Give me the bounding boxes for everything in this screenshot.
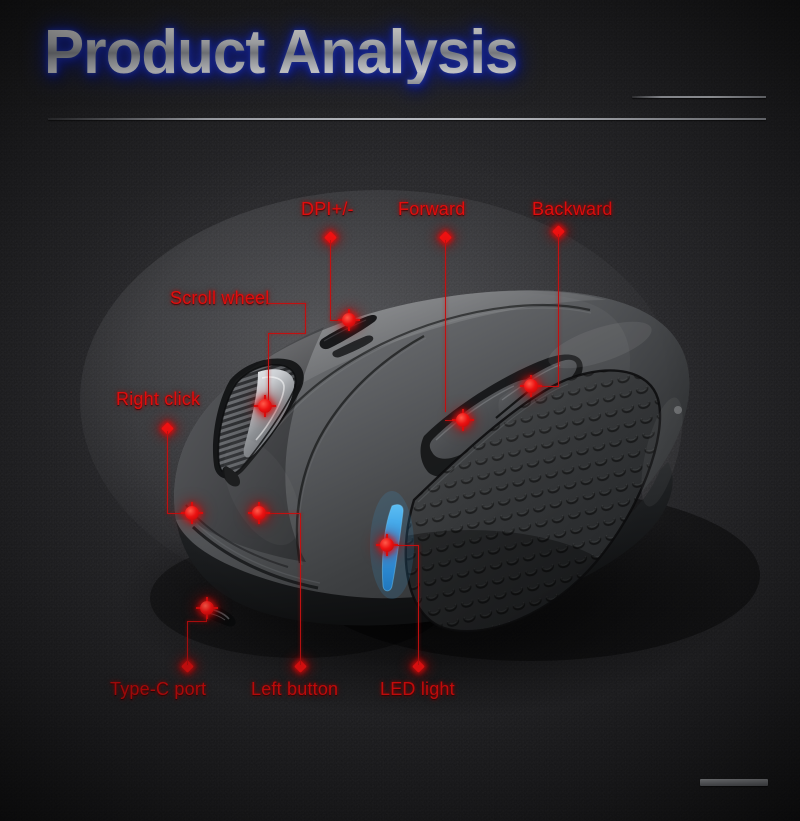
annotation-target-backward — [520, 375, 542, 397]
leader-line-scroll-wheel-drop — [305, 303, 306, 333]
leader-line-right-click — [167, 431, 168, 513]
annotation-target-type-c-port — [196, 597, 218, 619]
annotation-target-led-light — [376, 534, 398, 556]
leader-line-backward — [558, 234, 559, 386]
annotation-label-backward: Backward — [532, 199, 613, 220]
decorative-footer-bar — [700, 779, 768, 786]
leader-line-dpi — [330, 240, 331, 320]
annotation-target-right-click — [181, 502, 203, 524]
annotation-label-left-button: Left button — [251, 679, 338, 700]
annotation-label-type-c-port: Type-C port — [110, 679, 206, 700]
leader-line-type-c-port-elbow — [187, 621, 207, 622]
annotation-label-scroll-wheel: Scroll wheel — [170, 288, 269, 309]
annotation-target-scroll-wheel — [254, 395, 276, 417]
annotation-target-forward — [452, 409, 474, 431]
leader-line-scroll-wheel-mid — [268, 333, 306, 334]
annotation-layer: DPI+/- Forward Backward Scroll wheel — [0, 0, 800, 821]
leader-line-led-light — [418, 545, 419, 665]
annotation-label-right-click: Right click — [116, 389, 200, 410]
annotation-label-forward: Forward — [398, 199, 465, 220]
annotation-label-dpi: DPI+/- — [301, 199, 354, 220]
leader-line-left-button — [300, 513, 301, 665]
leader-line-scroll-wheel-top — [266, 303, 306, 304]
annotation-target-left-button — [248, 502, 270, 524]
product-analysis-infographic: Product Analysis — [0, 0, 800, 821]
annotation-label-led-light: LED light — [380, 679, 455, 700]
leader-line-forward — [445, 240, 446, 412]
leader-line-type-c-port — [187, 621, 188, 665]
annotation-target-dpi — [338, 309, 360, 331]
